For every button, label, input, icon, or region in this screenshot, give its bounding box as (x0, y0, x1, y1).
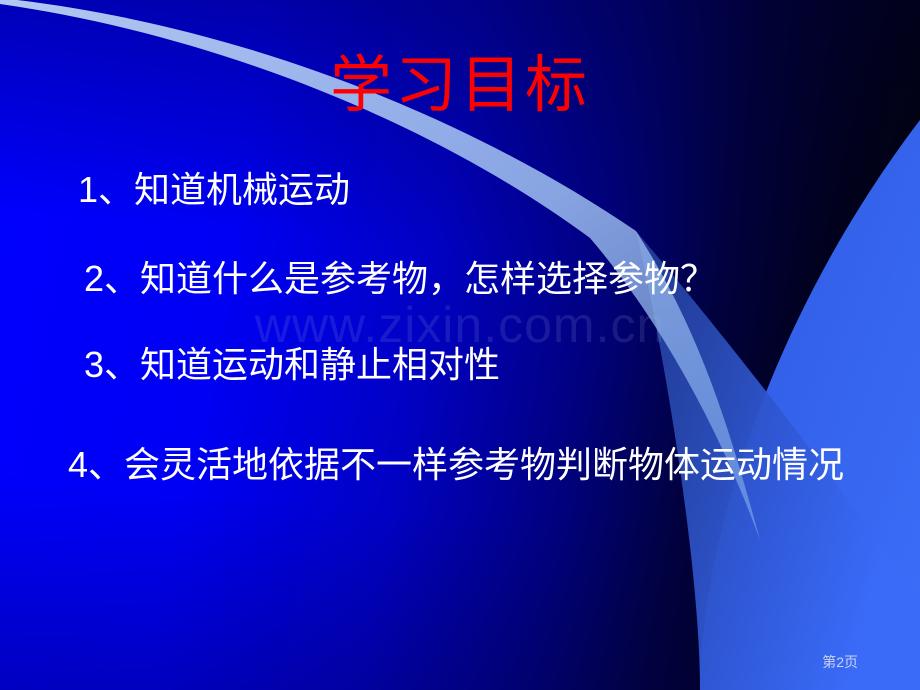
bullet-item-4: 4、会灵活地依据不一样参考物判断物体运动情况 (68, 441, 888, 489)
bullet-item-1: 1、知道机械运动 (78, 168, 350, 212)
page-number: 第2页 (822, 652, 858, 672)
bullet-item-2: 2、知道什么是参考物，怎样选择参物？ (84, 257, 716, 301)
presentation-slide: www.zixin.com.cn 学习目标 1、知道机械运动 2、知道什么是参考… (0, 0, 920, 690)
slide-title: 学习目标 (0, 52, 920, 120)
bullet-item-3: 3、知道运动和静止相对性 (84, 343, 500, 387)
